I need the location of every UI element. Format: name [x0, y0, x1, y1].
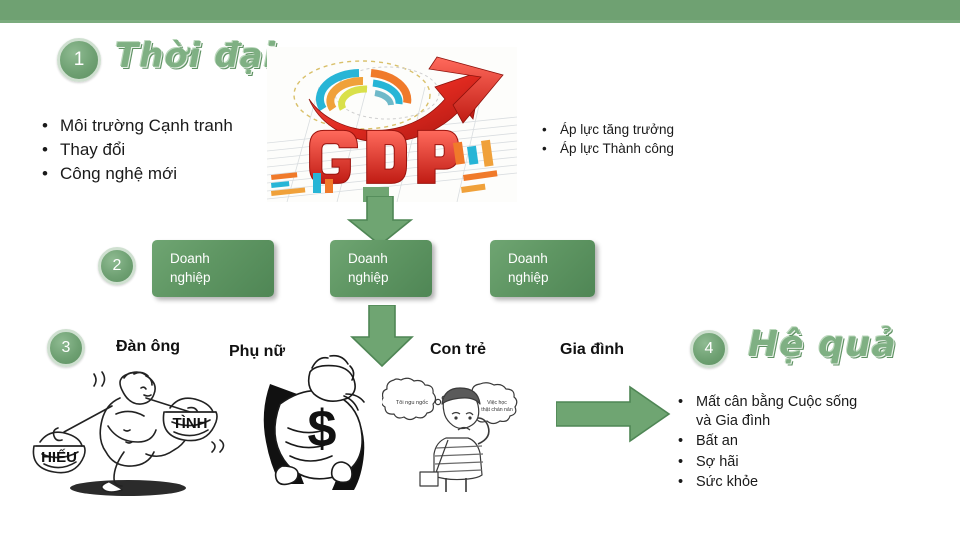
- list-item: • Công nghệ mới: [42, 163, 233, 185]
- enterprise-box-2-line2: nghiệp: [348, 269, 432, 288]
- section-badge-4-label: 4: [705, 340, 714, 358]
- section-badge-1-label: 1: [74, 49, 85, 71]
- money-bag-illustration: $: [258, 350, 378, 495]
- svg-text:Việc học: Việc học: [487, 400, 507, 406]
- list-item: • Sợ hãi: [678, 453, 938, 472]
- list-item: • Áp lực Thành công: [542, 140, 674, 157]
- bullet-glyph: •: [542, 121, 560, 138]
- list-item-label: Mất cân bằng Cuộc sống và Gia đình: [696, 393, 871, 430]
- list-item-label: Công nghệ mới: [60, 163, 177, 185]
- bullets-era-right: • Áp lực tăng trưởng • Áp lực Thành công: [542, 121, 674, 160]
- svg-text:thật chán nản: thật chán nản: [481, 407, 513, 413]
- bullets-era-left: • Môi trường Cạnh tranh • Thay đổi • Côn…: [42, 115, 233, 186]
- list-item: • Bất an: [678, 432, 938, 451]
- enterprise-box-3-line1: Doanh: [508, 250, 595, 269]
- list-item-label: Thay đổi: [60, 139, 125, 161]
- caption-children: Con trẻ: [430, 341, 486, 359]
- enterprise-box-3-line2: nghiệp: [508, 269, 595, 288]
- svg-text:TÌNH: TÌNH: [173, 415, 208, 432]
- arrow-right-consequences: [556, 385, 671, 448]
- list-item: • Môi trường Cạnh tranh: [42, 115, 233, 137]
- section-title-4: Hệ quả: [748, 324, 897, 365]
- caption-men: Đàn ông: [116, 338, 180, 356]
- bullet-glyph: •: [42, 139, 60, 161]
- bullet-glyph: •: [542, 140, 560, 157]
- top-accent-bar-shade: [0, 20, 960, 23]
- svg-text:Tôi ngu ngốc: Tôi ngu ngốc: [396, 400, 429, 406]
- bullet-glyph: •: [42, 115, 60, 137]
- caption-family: Gia đình: [560, 341, 624, 359]
- list-item-label: Môi trường Cạnh tranh: [60, 115, 233, 137]
- enterprise-box-2[interactable]: Doanh nghiệp: [330, 240, 432, 297]
- list-item-label: Áp lực Thành công: [560, 140, 674, 157]
- gdp-growth-image: [267, 47, 517, 202]
- section-badge-1: 1: [57, 38, 101, 82]
- enterprise-box-1[interactable]: Doanh nghiệp: [152, 240, 274, 297]
- svg-text:$: $: [308, 400, 337, 458]
- list-item-label: Sợ hãi: [696, 453, 739, 472]
- bullet-glyph: •: [42, 163, 60, 185]
- section-title-1: Thời đại: [115, 36, 276, 76]
- list-item: • Mất cân bằng Cuộc sống và Gia đình: [678, 393, 938, 430]
- list-item-label: Bất an: [696, 432, 738, 451]
- section-badge-2: 2: [98, 247, 136, 285]
- sad-child-illustration: Tôi ngu ngốc Việc học thật chán nản: [382, 362, 547, 492]
- section-badge-4: 4: [690, 330, 728, 368]
- list-item: • Áp lực tăng trưởng: [542, 121, 674, 138]
- list-item: • Sức khỏe: [678, 473, 938, 492]
- enterprise-box-3[interactable]: Doanh nghiệp: [490, 240, 595, 297]
- bullet-glyph: •: [678, 432, 696, 451]
- enterprise-box-1-line1: Doanh: [170, 250, 274, 269]
- enterprise-box-1-line2: nghiệp: [170, 269, 274, 288]
- bullet-glyph: •: [678, 473, 696, 492]
- bullets-consequences: • Mất cân bằng Cuộc sống và Gia đình • B…: [678, 393, 938, 494]
- man-carrying-baskets-illustration: HIẾU TÌNH: [28, 368, 233, 498]
- section-badge-2-label: 2: [113, 257, 122, 275]
- svg-text:HIẾU: HIẾU: [41, 449, 77, 466]
- list-item-label: Sức khỏe: [696, 473, 758, 492]
- bullet-glyph: •: [678, 393, 696, 412]
- enterprise-box-2-line1: Doanh: [348, 250, 432, 269]
- list-item-label: Áp lực tăng trưởng: [560, 121, 674, 138]
- section-badge-3-label: 3: [62, 339, 71, 357]
- top-accent-bar: [0, 0, 960, 20]
- list-item: • Thay đổi: [42, 139, 233, 161]
- slide-canvas: 1 Thời đại: [0, 0, 960, 540]
- section-badge-3: 3: [47, 329, 85, 367]
- bullet-glyph: •: [678, 453, 696, 472]
